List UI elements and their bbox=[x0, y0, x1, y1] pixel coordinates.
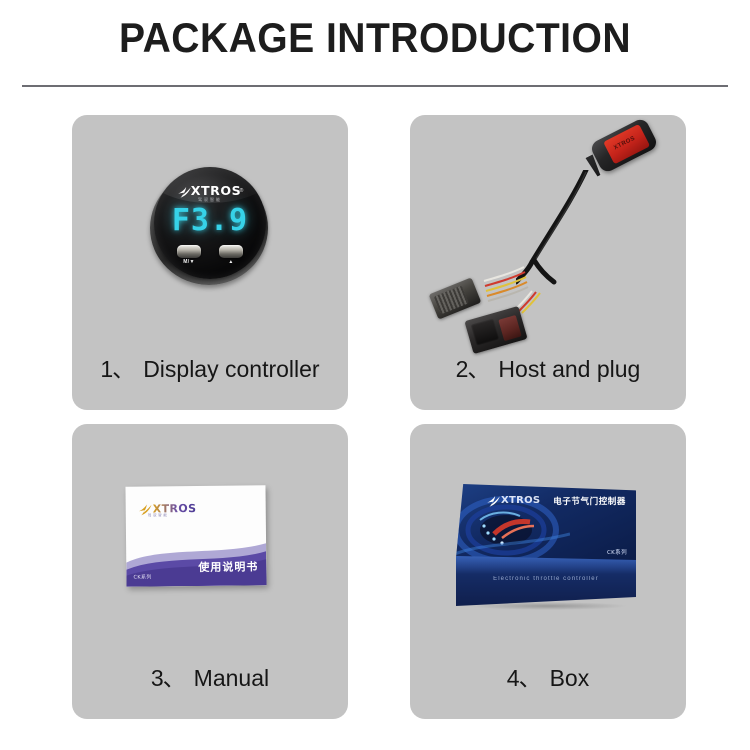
star-icon bbox=[486, 493, 501, 508]
item-caption: 4、Box bbox=[410, 659, 686, 693]
package-item-1: XTROS ® 驾驭智能 F3.9 M/▼ ▲ bbox=[72, 115, 348, 410]
package-item-2: XTROS bbox=[410, 115, 686, 410]
brand-subtitle: 驾驭智能 bbox=[148, 513, 169, 518]
box-top-face: XTROS 电子节气门控制器 CK系列 bbox=[456, 484, 636, 564]
item-label: Box bbox=[550, 665, 590, 691]
product-image-host-and-plug: XTROS bbox=[410, 115, 686, 347]
mode-down-button-label: M/▼ bbox=[173, 259, 205, 265]
item-number: 2、 bbox=[456, 356, 490, 382]
dial-button-row: M/▼ ▲ bbox=[154, 245, 266, 271]
retail-box: XTROS 电子节气门控制器 CK系列 Electronic throttle … bbox=[456, 484, 636, 606]
package-item-3: XTROS 驾驭智能 使用说明书 CK系列 3、Manual bbox=[72, 424, 348, 719]
mode-down-button[interactable]: M/▼ bbox=[177, 245, 201, 258]
button-cap bbox=[177, 245, 201, 258]
package-items-grid: XTROS ® 驾驭智能 F3.9 M/▼ ▲ bbox=[0, 0, 750, 750]
product-image-display-controller: XTROS ® 驾驭智能 F3.9 M/▼ ▲ bbox=[72, 115, 348, 347]
up-button[interactable]: ▲ bbox=[219, 245, 243, 258]
throttle-controller-dial: XTROS ® 驾驭智能 F3.9 M/▼ ▲ bbox=[148, 165, 272, 289]
box-drop-shadow bbox=[468, 602, 628, 610]
host-label-brand: XTROS bbox=[613, 134, 640, 153]
item-label: Display controller bbox=[143, 356, 319, 382]
item-number: 1、 bbox=[100, 356, 134, 382]
package-item-4: XTROS 电子节气门控制器 CK系列 Electronic throttle … bbox=[410, 424, 686, 719]
up-button-label: ▲ bbox=[215, 259, 247, 265]
product-image-manual: XTROS 驾驭智能 使用说明书 CK系列 bbox=[72, 424, 348, 656]
item-label: Host and plug bbox=[498, 356, 640, 382]
box-front-face: Electronic throttle controller bbox=[456, 556, 636, 606]
brand-name: XTROS bbox=[501, 495, 540, 506]
manual-booklet: XTROS 驾驭智能 使用说明书 CK系列 bbox=[125, 485, 266, 586]
item-caption: 1、Display controller bbox=[72, 350, 348, 384]
brand-logo: XTROS bbox=[486, 493, 552, 507]
host-red-label: XTROS bbox=[603, 124, 650, 164]
item-label: Manual bbox=[194, 665, 269, 691]
product-image-box: XTROS 电子节气门控制器 CK系列 Electronic throttle … bbox=[410, 424, 686, 656]
dial-face: XTROS ® 驾驭智能 F3.9 M/▼ ▲ bbox=[154, 167, 266, 279]
box-front-text: Electronic throttle controller bbox=[456, 576, 636, 582]
item-number: 4、 bbox=[507, 665, 541, 691]
package-introduction-page: PACKAGE INTRODUCTION bbox=[0, 0, 750, 750]
host-module: XTROS bbox=[589, 117, 659, 175]
button-cap bbox=[219, 245, 243, 258]
manual-title-cn: 使用说明书 bbox=[198, 558, 258, 575]
item-caption: 2、Host and plug bbox=[410, 350, 686, 384]
led-display-value: F3.9 bbox=[154, 203, 266, 238]
box-series-label: CK系列 bbox=[607, 548, 627, 556]
manual-series-label: CK系列 bbox=[133, 573, 151, 580]
item-caption: 3、Manual bbox=[72, 659, 348, 693]
item-number: 3、 bbox=[151, 665, 185, 691]
box-title-cn: 电子节气门控制器 bbox=[553, 495, 626, 507]
brand-name: XTROS bbox=[190, 184, 240, 198]
